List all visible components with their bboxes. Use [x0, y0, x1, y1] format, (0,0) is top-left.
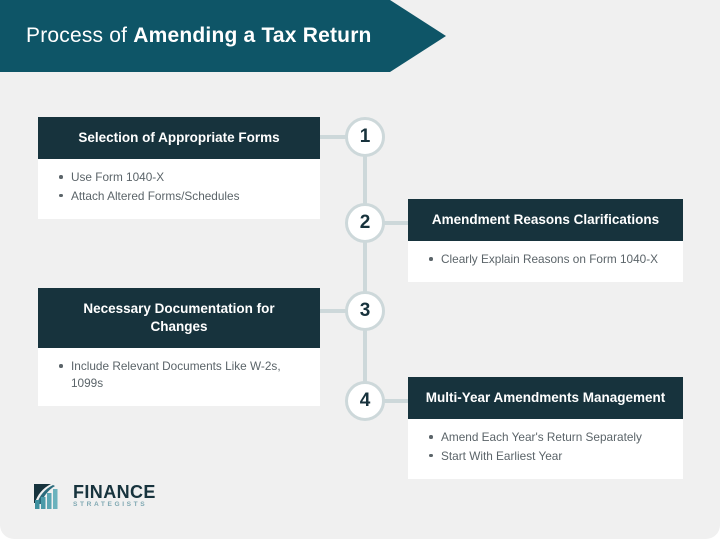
step-bullet-list-2: Clearly Explain Reasons on Form 1040-X [422, 251, 669, 268]
infographic-canvas: Process of Amending a Tax Return 1 2 3 4… [0, 0, 720, 539]
step-card-title-4: Multi-Year Amendments Management [408, 377, 683, 419]
step-card-title-2: Amendment Reasons Clarifications [408, 199, 683, 241]
list-item: Clearly Explain Reasons on Form 1040-X [439, 251, 669, 268]
step-card-title-1: Selection of Appropriate Forms [38, 117, 320, 159]
step-card-1: Selection of Appropriate Forms Use Form … [38, 117, 320, 219]
brand-name: FINANCE [73, 483, 156, 501]
brand-subtitle: STRATEGISTS [73, 502, 156, 509]
step-card-4: Multi-Year Amendments Management Amend E… [408, 377, 683, 479]
brand-logo-text: FINANCE STRATEGISTS [73, 483, 156, 509]
step-number-node-4: 4 [345, 381, 385, 421]
list-item: Attach Altered Forms/Schedules [69, 188, 306, 205]
list-item: Start With Earliest Year [439, 448, 669, 465]
step-card-body-2: Clearly Explain Reasons on Form 1040-X [408, 241, 683, 282]
step-card-body-3: Include Relevant Documents Like W-2s, 10… [38, 348, 320, 406]
step-number-node-1: 1 [345, 117, 385, 157]
list-item: Include Relevant Documents Like W-2s, 10… [69, 358, 306, 392]
timeline-rail [363, 138, 367, 402]
step-card-3: Necessary Documentation for Changes Incl… [38, 288, 320, 406]
brand-logo: FINANCE STRATEGISTS [33, 482, 156, 510]
list-item: Use Form 1040-X [69, 169, 306, 186]
step-bullet-list-4: Amend Each Year's Return Separately Star… [422, 429, 669, 465]
step-bullet-list-1: Use Form 1040-X Attach Altered Forms/Sch… [52, 169, 306, 205]
step-card-body-1: Use Form 1040-X Attach Altered Forms/Sch… [38, 159, 320, 219]
step-number-node-3: 3 [345, 291, 385, 331]
step-card-2: Amendment Reasons Clarifications Clearly… [408, 199, 683, 282]
page-title: Process of Amending a Tax Return [0, 24, 372, 48]
list-item: Amend Each Year's Return Separately [439, 429, 669, 446]
header-banner: Process of Amending a Tax Return [0, 0, 446, 72]
chart-swoosh-icon [33, 482, 67, 510]
step-card-body-4: Amend Each Year's Return Separately Star… [408, 419, 683, 479]
step-number-node-2: 2 [345, 203, 385, 243]
page-title-plain: Process of [26, 24, 133, 47]
step-card-title-3: Necessary Documentation for Changes [38, 288, 320, 348]
page-title-strong: Amending a Tax Return [133, 24, 371, 47]
step-bullet-list-3: Include Relevant Documents Like W-2s, 10… [52, 358, 306, 392]
